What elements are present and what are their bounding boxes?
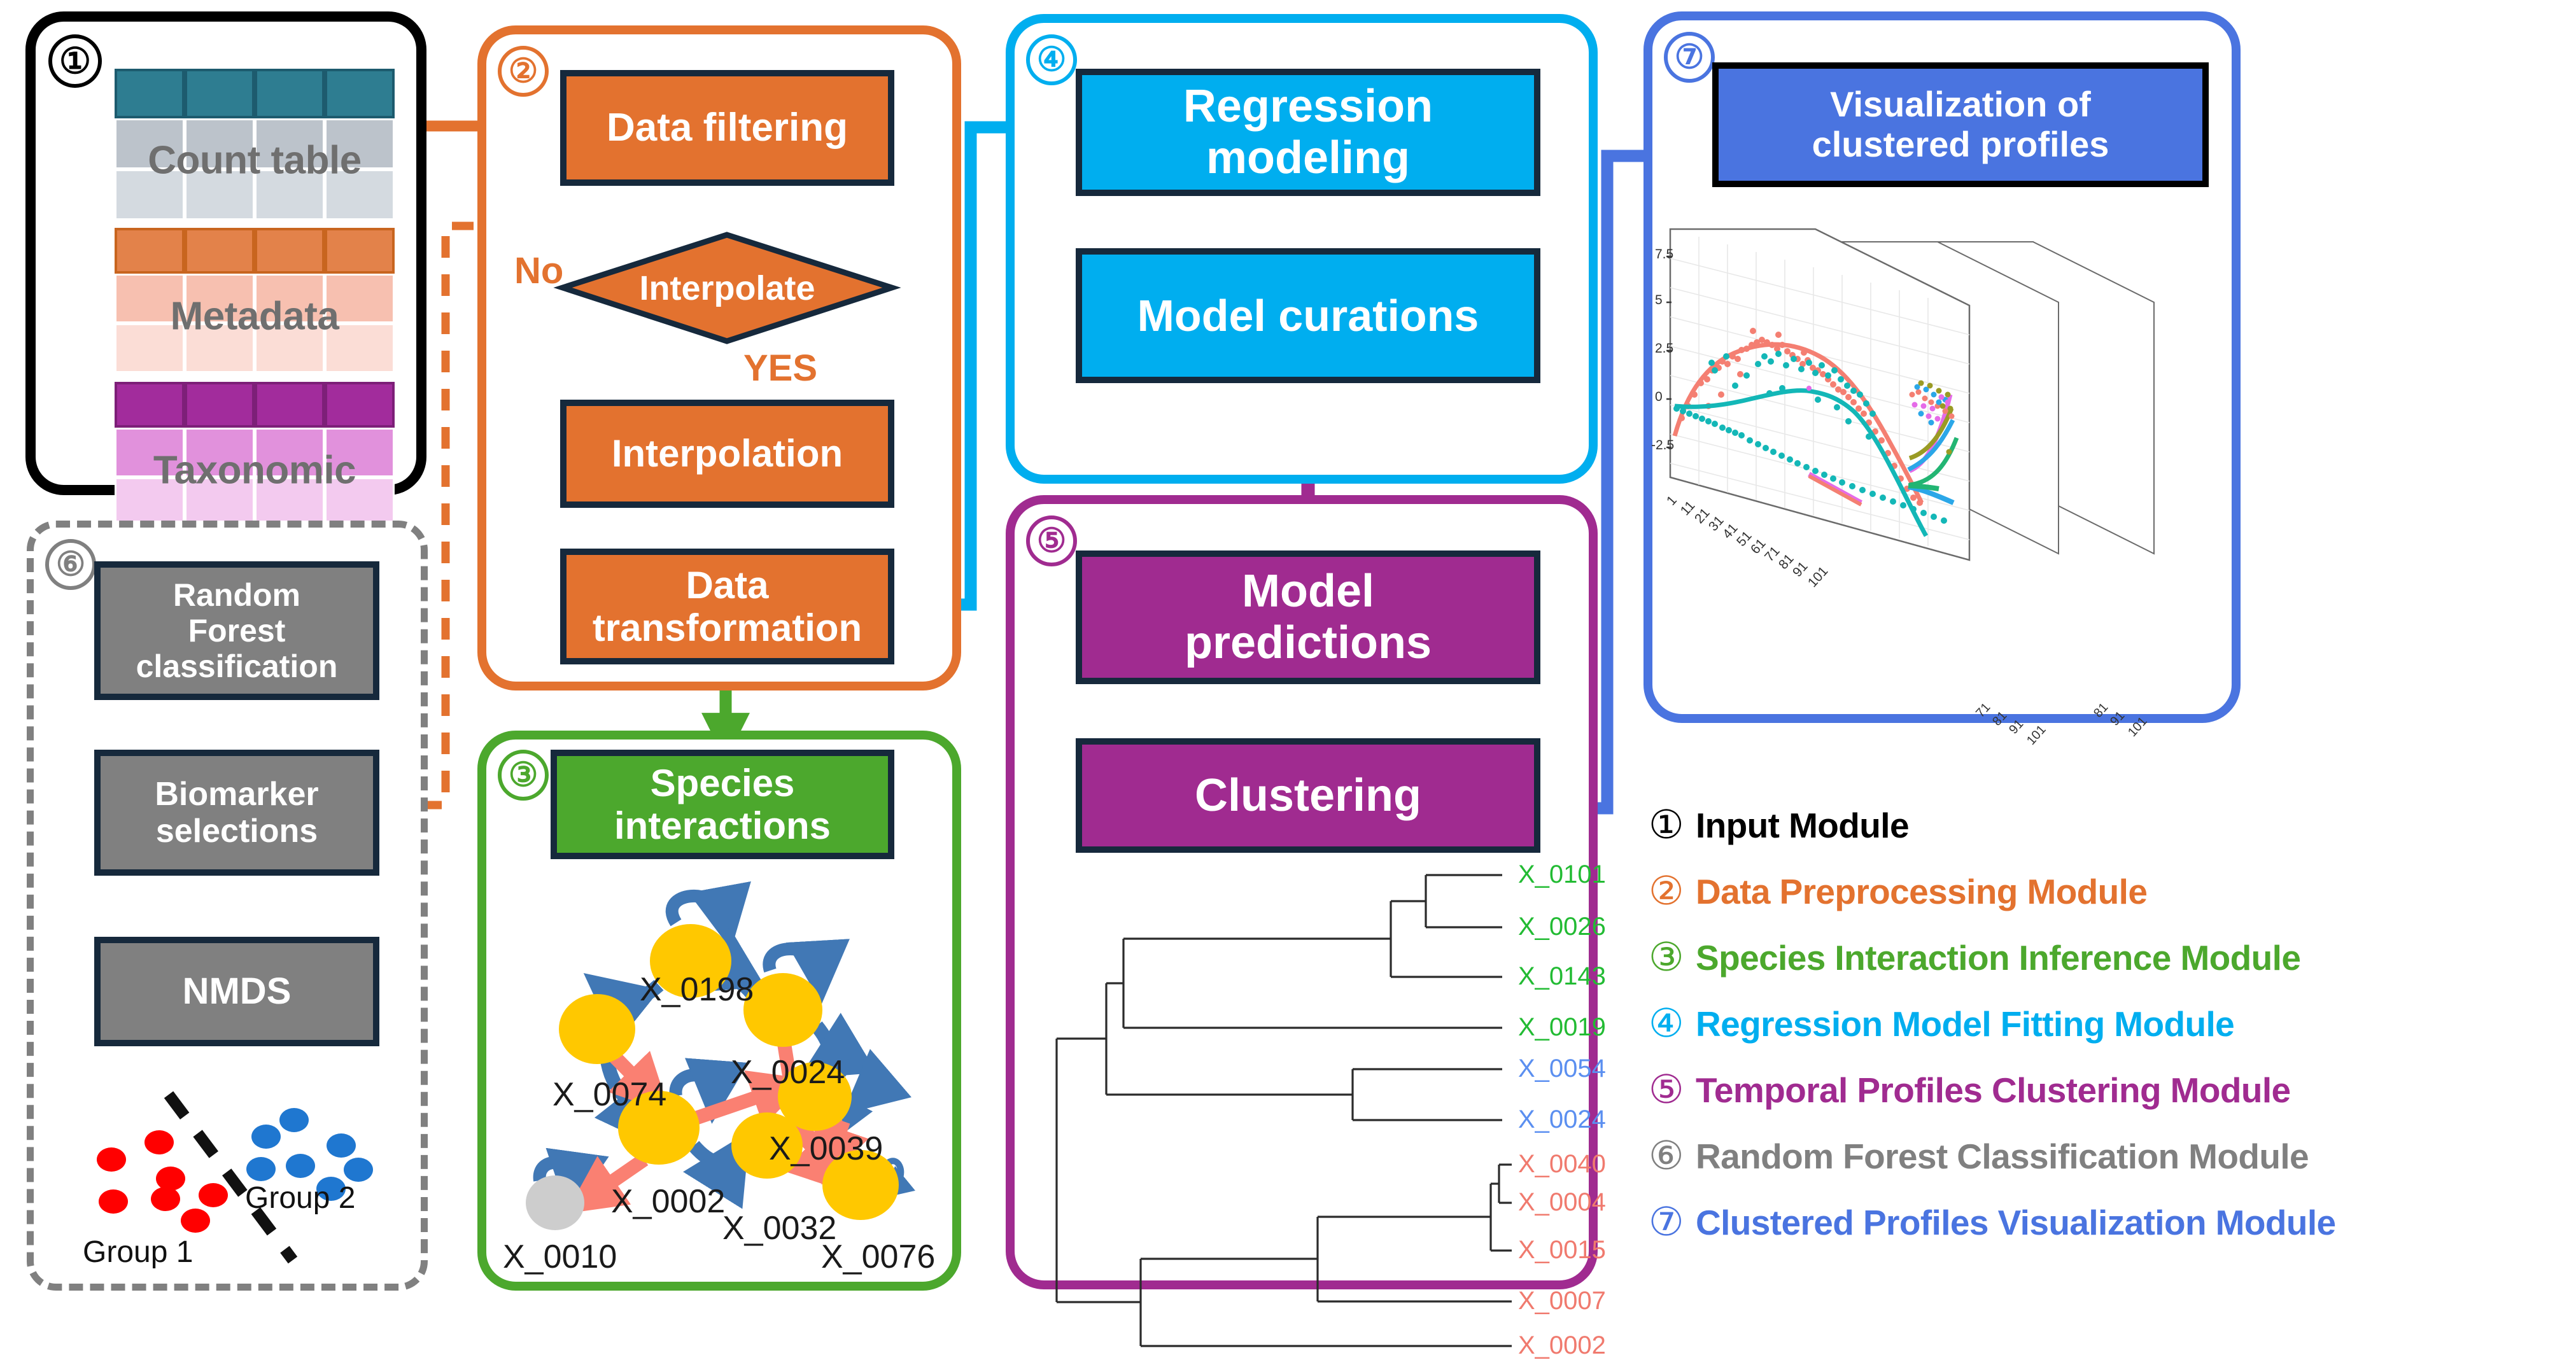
legend-item-2: ② Data Preprocessing Module [1649,859,2552,925]
legend-item-5: ⑤ Temporal Profiles Clustering Module [1649,1057,2552,1123]
legend-item-1: ① Input Module [1649,792,2552,859]
legend-label-3: Species Interaction Inference Module [1696,937,2300,978]
legend-number-6: ⑥ [1649,1137,1696,1176]
dendro-leaf-label: X_0026 [1518,913,1606,941]
legend-number-4: ④ [1649,1004,1696,1044]
network-label-x0002: X_0002 [611,1182,725,1221]
legend-number-5: ⑤ [1649,1070,1696,1110]
module-4-number: ④ [1026,34,1077,85]
dendro-leaf-label: X_0040 [1518,1150,1606,1179]
legend-label-2: Data Preprocessing Module [1696,871,2147,912]
network-node [559,994,635,1064]
dendro-leaf-label: X_0007 [1518,1287,1606,1315]
dendro-leaf-label: X_0002 [1518,1331,1606,1360]
legend-number-7: ⑦ [1649,1203,1696,1242]
legend-label-4: Regression Model Fitting Module [1696,1004,2234,1044]
box-model-predictions-label: Modelpredictions [1185,566,1432,668]
dendro-leaf-label: X_0019 [1518,1013,1606,1042]
box-biomarker-selections[interactable]: Biomarkerselections [94,750,379,876]
box-biomarker-selections-label: Biomarkerselections [155,776,318,850]
legend-number-2: ② [1649,872,1696,911]
dendro-leaf-label: X_0143 [1518,962,1606,991]
chart-ytick: 7.5 [1655,247,1673,262]
network-label-x0076: X_0076 [821,1238,935,1276]
dendro-leaf-label: X_0024 [1518,1105,1606,1134]
chart-ytick: -2.5 [1651,438,1674,453]
legend-item-3: ③ Species Interaction Inference Module [1649,925,2552,991]
legend-label-6: Random Forest Classification Module [1696,1136,2309,1177]
legend-item-6: ⑥ Random Forest Classification Module [1649,1123,2552,1189]
nmds-group1-label: Group 1 [83,1235,193,1270]
network-node [526,1175,584,1230]
nmds-group2-label: Group 2 [245,1181,355,1216]
dendro-leaf-label: X_0101 [1518,860,1606,889]
dendro-leaf-label: X_0004 [1518,1188,1606,1217]
network-node [743,973,822,1047]
box-model-curations[interactable]: Model curations [1076,248,1540,383]
legend-label-1: Input Module [1696,805,1909,846]
chart-ytick: 2.5 [1655,341,1673,356]
box-regression-modeling-label: Regressionmodeling [1183,81,1433,183]
box-random-forest-classification-label: RandomForestclassification [136,577,338,684]
box-regression-modeling[interactable]: Regressionmodeling [1076,69,1540,196]
network-label-x0032: X_0032 [722,1209,836,1247]
module-6-number: ⑥ [45,539,96,590]
box-clustering[interactable]: Clustering [1076,738,1540,853]
legend-number-3: ③ [1649,938,1696,978]
legend-label-5: Temporal Profiles Clustering Module [1696,1070,2291,1111]
box-nmds[interactable]: NMDS [94,937,379,1046]
module-5-number: ⑤ [1026,515,1077,566]
diagram-canvas: ① Count table Metadata [0,0,2576,1303]
box-visualization-label: Visualization ofclustered profiles [1812,85,2109,164]
box-random-forest-classification[interactable]: RandomForestclassification [94,561,379,700]
network-label-x0010: X_0010 [503,1238,617,1276]
network-label-x0039: X_0039 [769,1130,883,1168]
network-label-x0074: X_0074 [553,1076,666,1114]
module-7-number: ⑦ [1664,32,1715,83]
legend-item-4: ④ Regression Model Fitting Module [1649,991,2552,1057]
box-visualization-of-clustered-profiles[interactable]: Visualization ofclustered profiles [1712,62,2209,187]
module-legend: ① Input Module ② Data Preprocessing Modu… [1649,792,2552,1256]
chart-ytick: 5 [1655,293,1663,308]
legend-number-1: ① [1649,806,1696,845]
network-label-x0198: X_0198 [640,971,754,1009]
dendro-leaf-label: X_0054 [1518,1055,1606,1083]
box-model-predictions[interactable]: Modelpredictions [1076,550,1540,684]
legend-label-7: Clustered Profiles Visualization Module [1696,1202,2336,1243]
clustered-profiles-chart [1651,204,2243,726]
network-label-x0024: X_0024 [731,1053,845,1091]
chart-ytick: 0 [1655,389,1663,405]
legend-item-7: ⑦ Clustered Profiles Visualization Modul… [1649,1189,2552,1256]
dendro-leaf-label: X_0015 [1518,1236,1606,1265]
